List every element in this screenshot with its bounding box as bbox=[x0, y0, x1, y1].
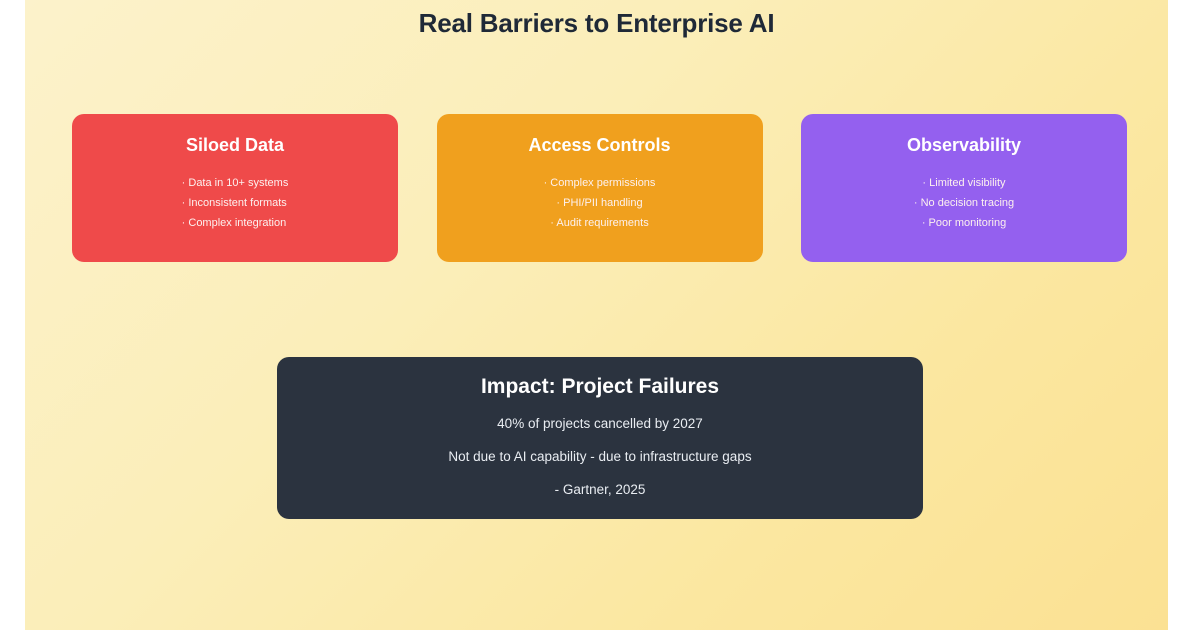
barrier-card-observability[interactable]: Observability · Limited visibility · No … bbox=[801, 114, 1127, 262]
impact-stat: 40% of projects cancelled by 2027 bbox=[497, 415, 703, 433]
bullet-item: · Data in 10+ systems bbox=[182, 173, 289, 193]
barrier-cards-row: Siloed Data · Data in 10+ systems · Inco… bbox=[72, 114, 1127, 262]
impact-title: Impact: Project Failures bbox=[481, 375, 719, 399]
impact-detail: Not due to AI capability - due to infras… bbox=[448, 448, 751, 466]
barrier-card-title: Access Controls bbox=[528, 136, 670, 156]
barrier-card-title: Observability bbox=[907, 136, 1021, 156]
bullet-item: · Complex integration bbox=[182, 213, 289, 233]
impact-source: - Gartner, 2025 bbox=[555, 481, 646, 499]
bullet-item: · Poor monitoring bbox=[914, 213, 1014, 233]
bullet-item: · Audit requirements bbox=[544, 213, 656, 233]
bullet-item: · No decision tracing bbox=[914, 193, 1014, 213]
barrier-card-siloed-data[interactable]: Siloed Data · Data in 10+ systems · Inco… bbox=[72, 114, 398, 262]
barrier-card-title: Siloed Data bbox=[186, 136, 284, 156]
barrier-card-bullets: · Limited visibility · No decision traci… bbox=[914, 173, 1014, 233]
page-title: Real Barriers to Enterprise AI bbox=[25, 8, 1168, 39]
barrier-card-bullets: · Complex permissions · PHI/PII handling… bbox=[544, 173, 656, 233]
bullet-item: · Inconsistent formats bbox=[182, 193, 289, 213]
slide-canvas: Real Barriers to Enterprise AI Siloed Da… bbox=[25, 0, 1168, 630]
bullet-item: · PHI/PII handling bbox=[544, 193, 656, 213]
barrier-card-access-controls[interactable]: Access Controls · Complex permissions · … bbox=[437, 114, 763, 262]
bullet-item: · Limited visibility bbox=[914, 173, 1014, 193]
impact-panel: Impact: Project Failures 40% of projects… bbox=[277, 357, 923, 519]
bullet-item: · Complex permissions bbox=[544, 173, 656, 193]
barrier-card-bullets: · Data in 10+ systems · Inconsistent for… bbox=[182, 173, 289, 233]
